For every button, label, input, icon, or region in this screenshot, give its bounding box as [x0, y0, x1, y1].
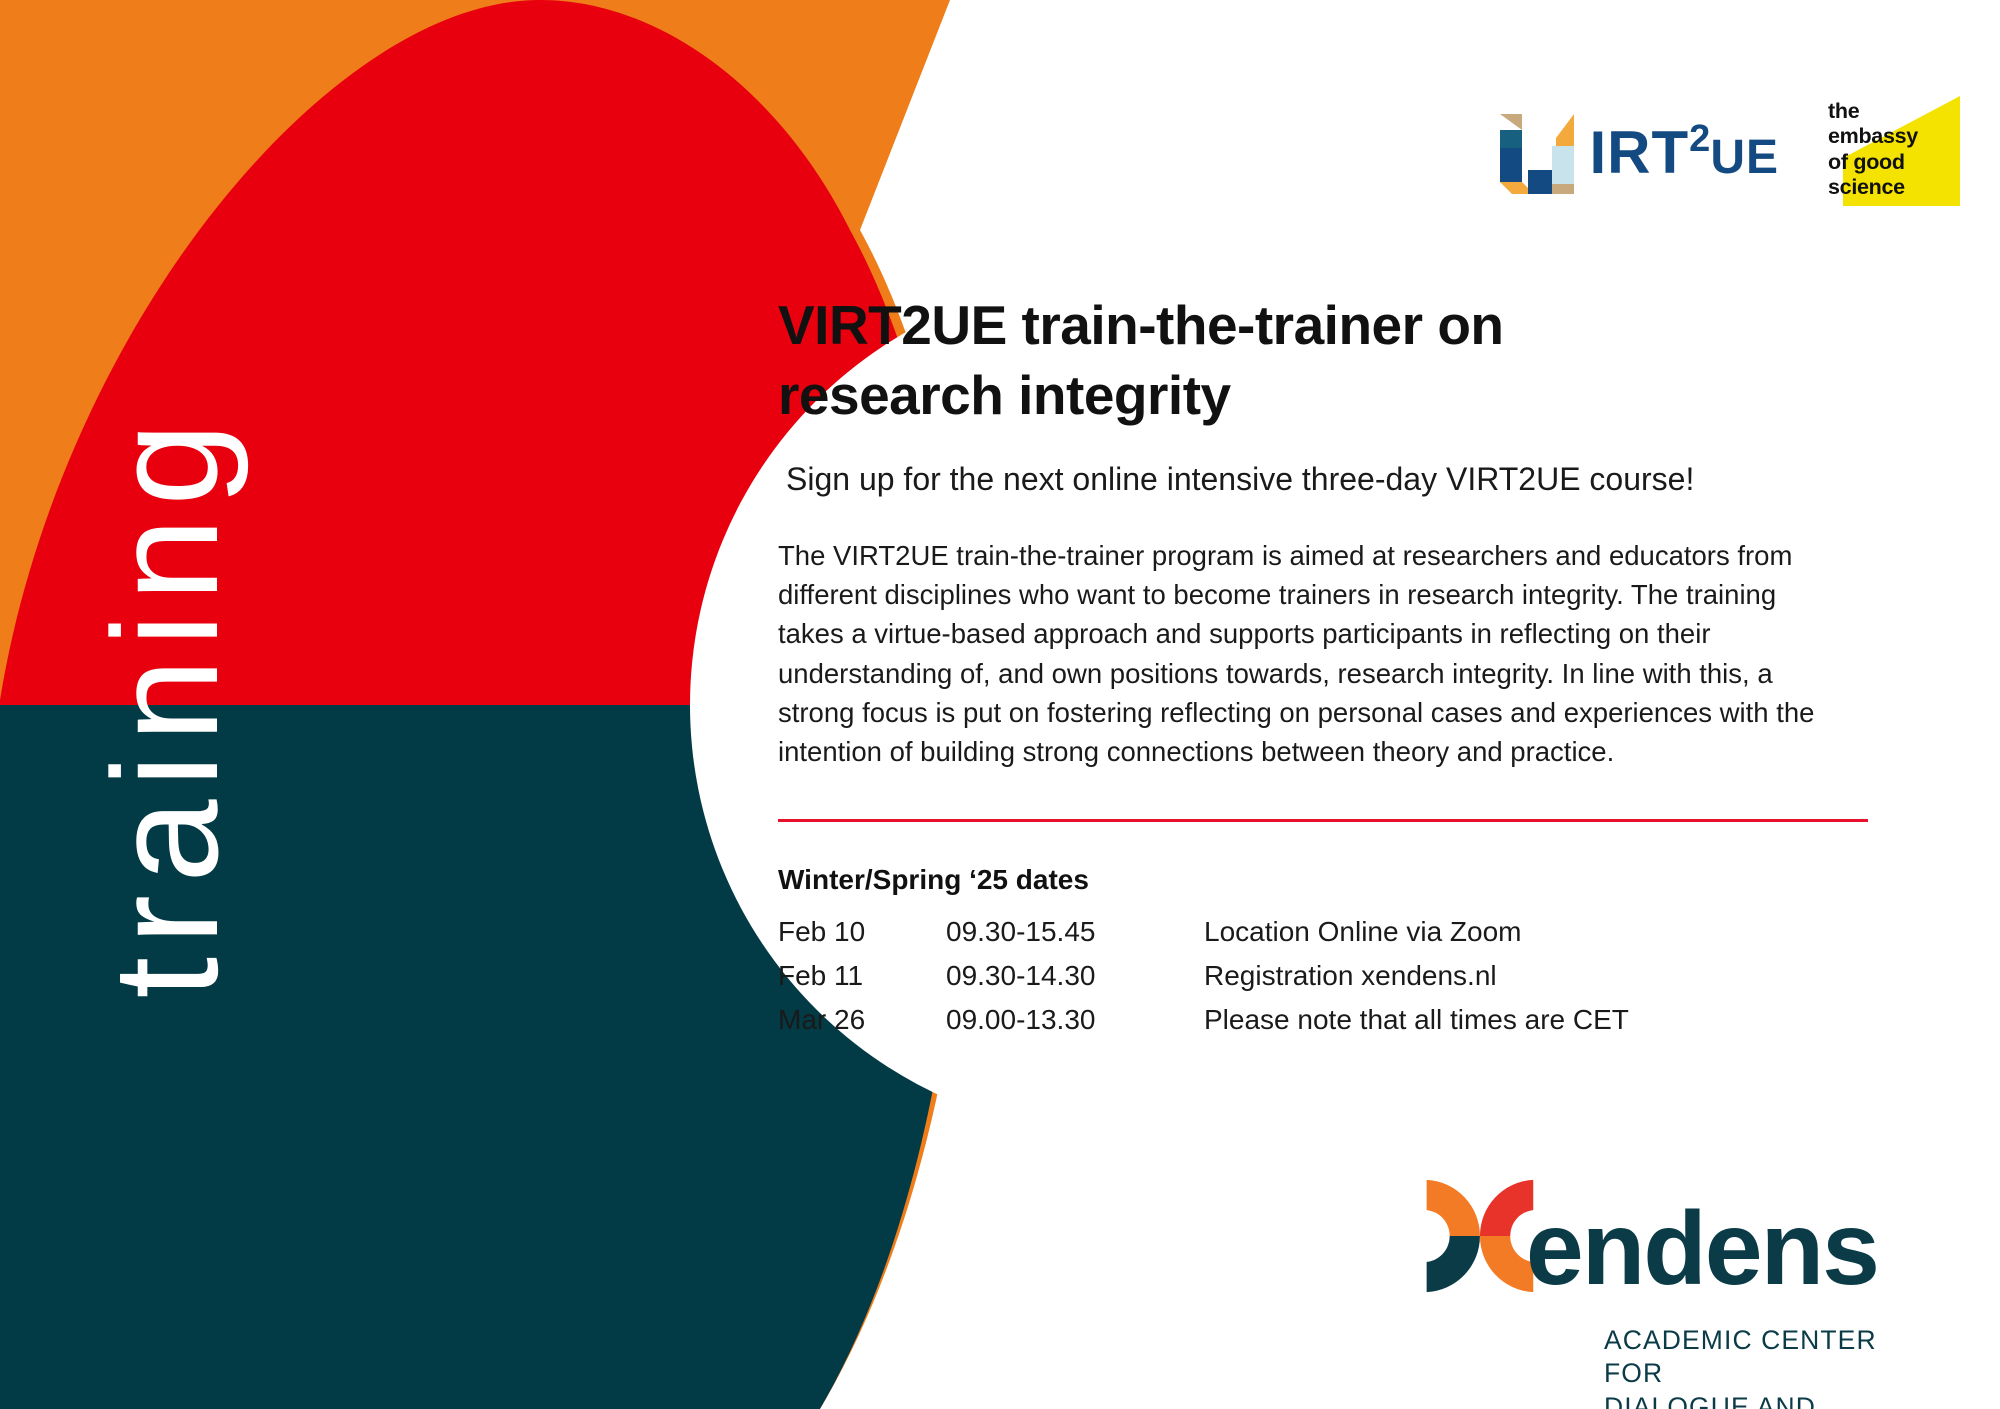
dates-section: Winter/Spring ‘25 dates Feb 10 09.30-15.…	[778, 864, 1868, 1042]
info-cell: Please note that all times are CET	[1204, 998, 1629, 1042]
info-cell: Registration xendens.nl	[1204, 954, 1629, 998]
virt2ue-v-mosaic-icon	[1494, 108, 1580, 194]
xendens-tagline: ACADEMIC CENTER FOR DIALOGUE AND SOCIETY	[1604, 1324, 1878, 1409]
virt2ue-wordmark-superscript: 2	[1689, 118, 1710, 160]
the-embassy-of-good-science-logo: the embassy of good science	[1825, 96, 1960, 206]
embassy-wordmark: the embassy of good science	[1828, 99, 1918, 200]
header-logo-row: IRT2UE the embassy of good science	[1494, 96, 1960, 206]
page-title: VIRT2UE train-the-trainer on research in…	[778, 290, 1678, 431]
embassy-line-1: the	[1828, 99, 1918, 124]
dates-table: Feb 10 09.30-15.45 Location Online via Z…	[778, 910, 1629, 1042]
xendens-tagline-line-2: DIALOGUE AND SOCIETY	[1604, 1391, 1878, 1409]
xendens-tagline-line-1: ACADEMIC CENTER FOR	[1604, 1324, 1878, 1391]
time-cell: 09.00-13.30	[946, 998, 1204, 1042]
virt2ue-wordmark-suffix: UE	[1710, 131, 1779, 184]
body-paragraph: The VIRT2UE train-the-trainer program is…	[778, 536, 1833, 770]
dates-heading: Winter/Spring ‘25 dates	[778, 864, 1868, 896]
virt2ue-wordmark-prefix: IRT	[1590, 119, 1690, 186]
xendens-logo: endens ACADEMIC CENTER FOR DIALOGUE AND …	[1418, 1150, 1878, 1409]
embassy-line-3: of good	[1828, 150, 1918, 175]
date-cell: Feb 10	[778, 910, 946, 954]
date-cell: Feb 11	[778, 954, 946, 998]
xendens-wordmark: endens	[1526, 1203, 1878, 1297]
date-cell: Mar 26	[778, 998, 946, 1042]
page-subtitle: Sign up for the next online intensive th…	[786, 459, 1868, 501]
main-content: VIRT2UE train-the-trainer on research in…	[778, 290, 1868, 1042]
embassy-line-2: embassy	[1828, 124, 1918, 149]
embassy-line-4: science	[1828, 175, 1918, 200]
red-divider-rule	[778, 819, 1868, 822]
virt2ue-logo: IRT2UE	[1494, 108, 1779, 194]
virt2ue-wordmark: IRT2UE	[1590, 120, 1779, 183]
info-cell: Location Online via Zoom	[1204, 910, 1629, 954]
xendens-x-mark-icon	[1418, 1150, 1542, 1322]
poster-canvas: training	[0, 0, 2000, 1409]
table-row: Feb 11 09.30-14.30 Registration xendens.…	[778, 954, 1629, 998]
table-row: Mar 26 09.00-13.30 Please note that all …	[778, 998, 1629, 1042]
table-row: Feb 10 09.30-15.45 Location Online via Z…	[778, 910, 1629, 954]
time-cell: 09.30-15.45	[946, 910, 1204, 954]
time-cell: 09.30-14.30	[946, 954, 1204, 998]
